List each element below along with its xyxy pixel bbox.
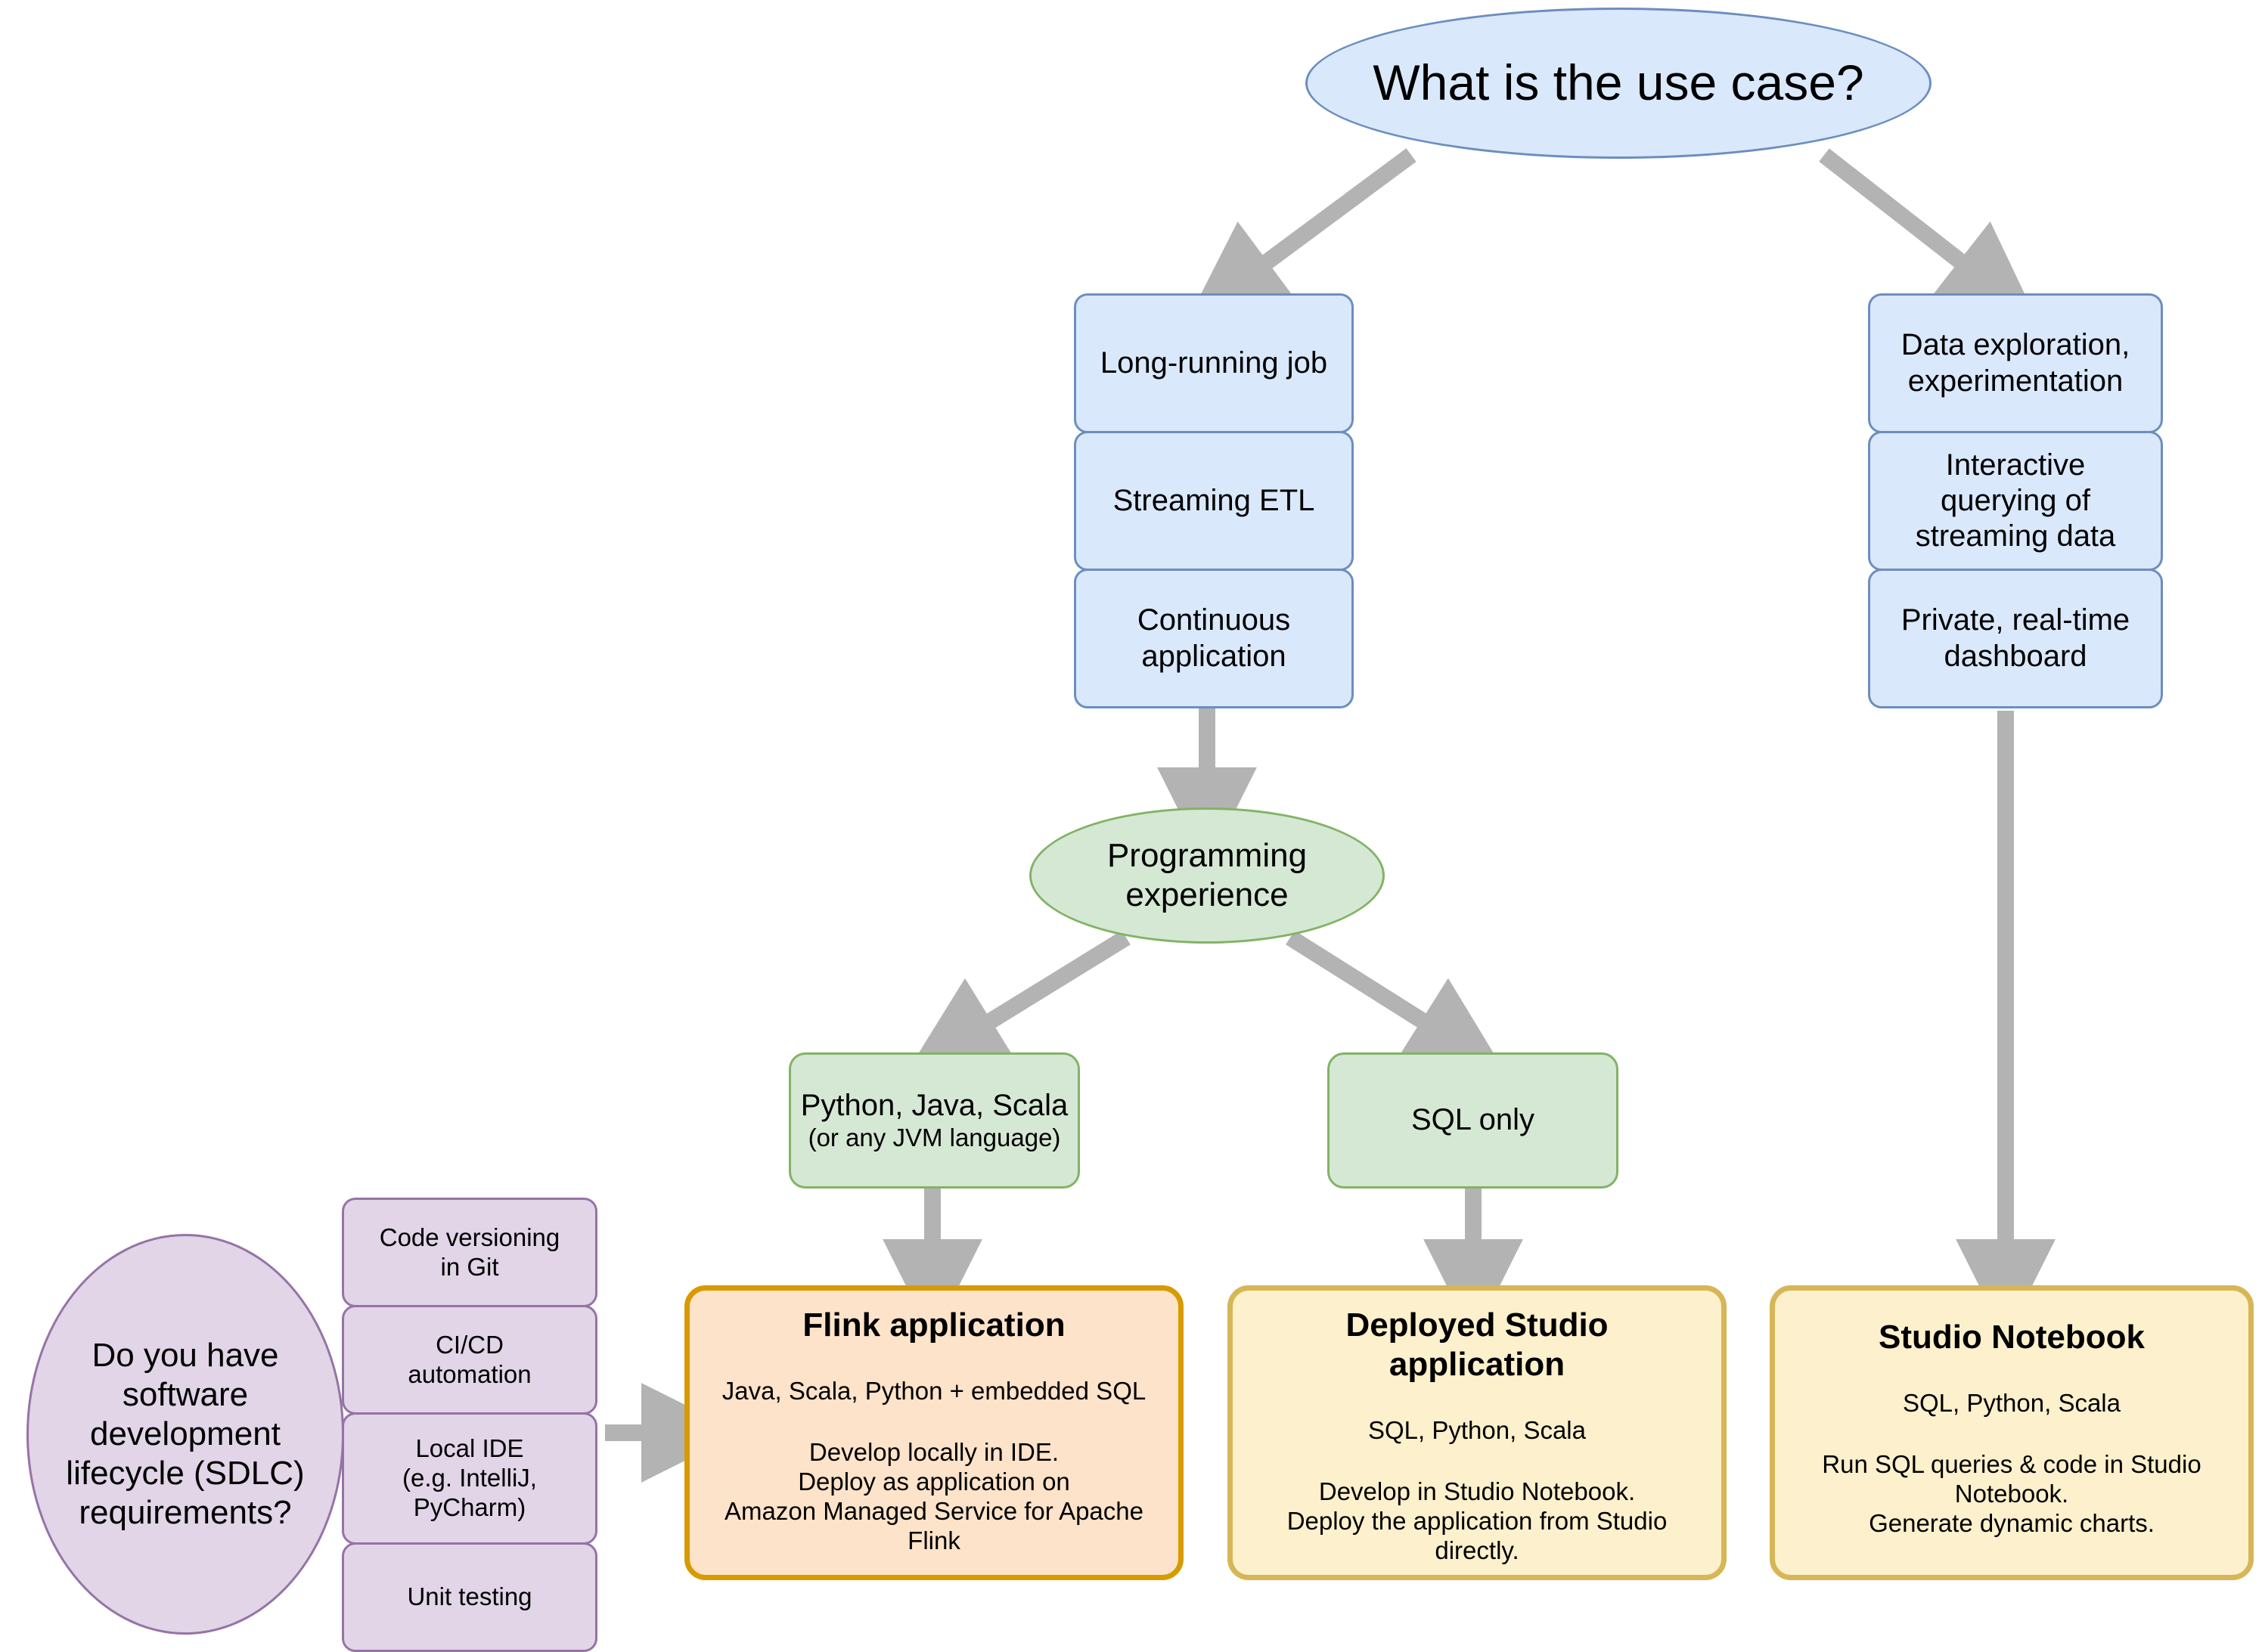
sdlc-item-label-line1: Code versioning (380, 1223, 560, 1253)
sdlc-question-line5: requirements? (79, 1493, 291, 1533)
root-question-node[interactable]: What is the use case? (1305, 8, 1932, 159)
outcome-deployed-studio-application[interactable]: Deployed Studio application SQL, Python,… (1227, 1285, 1727, 1580)
sdlc-question-line3: development (90, 1415, 281, 1454)
usecase-label-line2: application (1141, 639, 1286, 674)
usecase-long-running-job[interactable]: Long-running job (1074, 293, 1354, 433)
edge-root-to-longrunning (1233, 155, 1411, 287)
programming-experience-node[interactable]: Programming experience (1029, 807, 1385, 944)
outcome-languages: Java, Scala, Python + embedded SQL (722, 1377, 1146, 1406)
outcome-title-line2: application (1389, 1345, 1565, 1384)
edge-programming-to-sqlonly (1290, 938, 1458, 1043)
sdlc-item-unit-testing[interactable]: Unit testing (342, 1542, 597, 1652)
outcome-title: Flink application (802, 1306, 1065, 1345)
usecase-label-line2: querying of (1941, 483, 2090, 519)
outcome-languages: SQL, Python, Scala (1903, 1389, 2121, 1418)
outcome-desc-line1: Run SQL queries & code in Studio (1822, 1450, 2201, 1480)
usecase-label-line2: dashboard (1944, 639, 2087, 674)
usecase-continuous-application[interactable]: Continuous application (1074, 569, 1354, 708)
edge-programming-to-languages (954, 938, 1126, 1043)
language-label-line1: Python, Java, Scala (801, 1088, 1069, 1124)
usecase-label-line3: streaming data (1916, 519, 2116, 554)
sdlc-question-line2: software (123, 1375, 248, 1415)
usecase-label-line1: Continuous (1137, 603, 1290, 638)
outcome-desc-line1: Develop locally in IDE. (809, 1438, 1059, 1468)
programming-label-line1: Programming (1107, 836, 1307, 876)
sdlc-question-node[interactable]: Do you have software development lifecyc… (26, 1234, 344, 1635)
outcome-desc-line2: Deploy as application on (798, 1468, 1070, 1497)
sdlc-item-cicd-automation[interactable]: CI/CD automation (342, 1305, 597, 1415)
sdlc-item-code-versioning[interactable]: Code versioning in Git (342, 1198, 597, 1307)
usecase-data-exploration[interactable]: Data exploration, experimentation (1868, 293, 2163, 433)
outcome-desc-line1: Develop in Studio Notebook. (1319, 1477, 1635, 1507)
language-label-line2: (or any JVM language) (808, 1124, 1061, 1153)
language-option-sql-only[interactable]: SQL only (1327, 1052, 1618, 1189)
outcome-desc-line3: Amazon Managed Service for Apache (725, 1497, 1143, 1526)
language-option-jvm[interactable]: Python, Java, Scala (or any JVM language… (789, 1052, 1080, 1189)
sdlc-item-label-line1: CI/CD (436, 1331, 504, 1360)
usecase-label-line1: Private, real-time (1901, 603, 2130, 638)
root-question-label: What is the use case? (1373, 54, 1863, 113)
programming-label-line2: experience (1125, 876, 1288, 915)
flowchart-canvas: What is the use case? Long-running job S… (0, 0, 2262, 1642)
usecase-label-line1: Data exploration, (1901, 327, 2130, 363)
usecase-label: Long-running job (1100, 346, 1327, 381)
outcome-desc-line3: Generate dynamic charts. (1869, 1509, 2155, 1539)
outcome-desc-line3: directly. (1435, 1536, 1519, 1566)
usecase-private-dashboard[interactable]: Private, real-time dashboard (1868, 569, 2163, 708)
sdlc-item-local-ide[interactable]: Local IDE (e.g. IntelliJ, PyCharm) (342, 1412, 597, 1545)
usecase-label-line1: Interactive (1946, 448, 2086, 483)
outcome-flink-application[interactable]: Flink application Java, Scala, Python + … (684, 1285, 1184, 1580)
sdlc-item-label-line3: PyCharm) (414, 1493, 526, 1523)
sdlc-item-label-line2: (e.g. IntelliJ, (402, 1464, 537, 1493)
edge-root-to-dataexploration (1824, 155, 1994, 287)
outcome-title: Studio Notebook (1879, 1318, 2145, 1357)
outcome-title-line1: Deployed Studio (1345, 1306, 1608, 1345)
outcome-studio-notebook[interactable]: Studio Notebook SQL, Python, Scala Run S… (1770, 1285, 2254, 1580)
sdlc-item-label-line1: Local IDE (415, 1434, 523, 1464)
sdlc-item-label-line1: Unit testing (407, 1582, 532, 1612)
usecase-label-line2: experimentation (1908, 364, 2124, 399)
sdlc-item-label-line2: automation (408, 1360, 531, 1390)
outcome-languages: SQL, Python, Scala (1368, 1416, 1586, 1446)
outcome-desc-line2: Deploy the application from Studio (1287, 1507, 1668, 1536)
outcome-desc-line2: Notebook. (1955, 1480, 2068, 1509)
sdlc-question-line4: lifecycle (SDLC) (66, 1454, 304, 1493)
usecase-streaming-etl[interactable]: Streaming ETL (1074, 431, 1354, 571)
sdlc-item-label-line2: in Git (440, 1253, 498, 1282)
usecase-label: Streaming ETL (1113, 483, 1315, 519)
outcome-desc-line4: Flink (908, 1526, 960, 1556)
usecase-interactive-querying[interactable]: Interactive querying of streaming data (1868, 431, 2163, 571)
sdlc-question-line1: Do you have (92, 1336, 278, 1375)
language-label-line1: SQL only (1411, 1102, 1534, 1138)
